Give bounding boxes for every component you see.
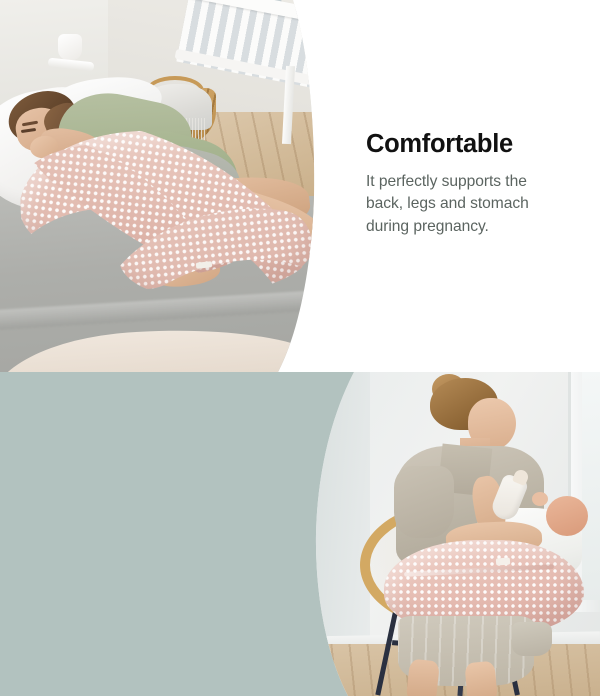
baby-head (546, 496, 588, 536)
wall-lamp (54, 34, 94, 70)
lamp-shade (58, 34, 82, 60)
mother-leg-right (464, 661, 497, 696)
feature-panel-comfortable: Comfortable It perfectly supports the ba… (0, 0, 600, 372)
comfortable-body: It perfectly supports the back, legs and… (366, 171, 590, 237)
comfortable-heading: Comfortable (366, 130, 590, 159)
product-feature-panels: Comfortable It perfectly supports the ba… (0, 0, 600, 696)
nursing-pillow-tag (496, 558, 510, 566)
mother-sleeve (394, 466, 454, 538)
feature-panel-convenient: Convenient Supports your baby at the ide… (0, 372, 600, 696)
comfortable-text-block: Comfortable It perfectly supports the ba… (366, 130, 590, 238)
comfortable-body-line-1: It perfectly supports the (366, 171, 590, 193)
window-pane (582, 372, 600, 600)
convenient-photo-scene (300, 372, 600, 696)
comfortable-body-line-3: during pregnancy. (366, 216, 590, 238)
convenient-photo (300, 372, 600, 696)
comfortable-photo-scene (0, 0, 322, 372)
crib-leg-right (315, 64, 322, 150)
mother-leg-left (406, 659, 440, 696)
comfortable-body-line-2: back, legs and stomach (366, 193, 590, 215)
comfortable-photo (0, 0, 322, 372)
baby-hand (532, 492, 548, 506)
lamp-shelf (48, 58, 95, 72)
draped-cloth (512, 622, 552, 656)
